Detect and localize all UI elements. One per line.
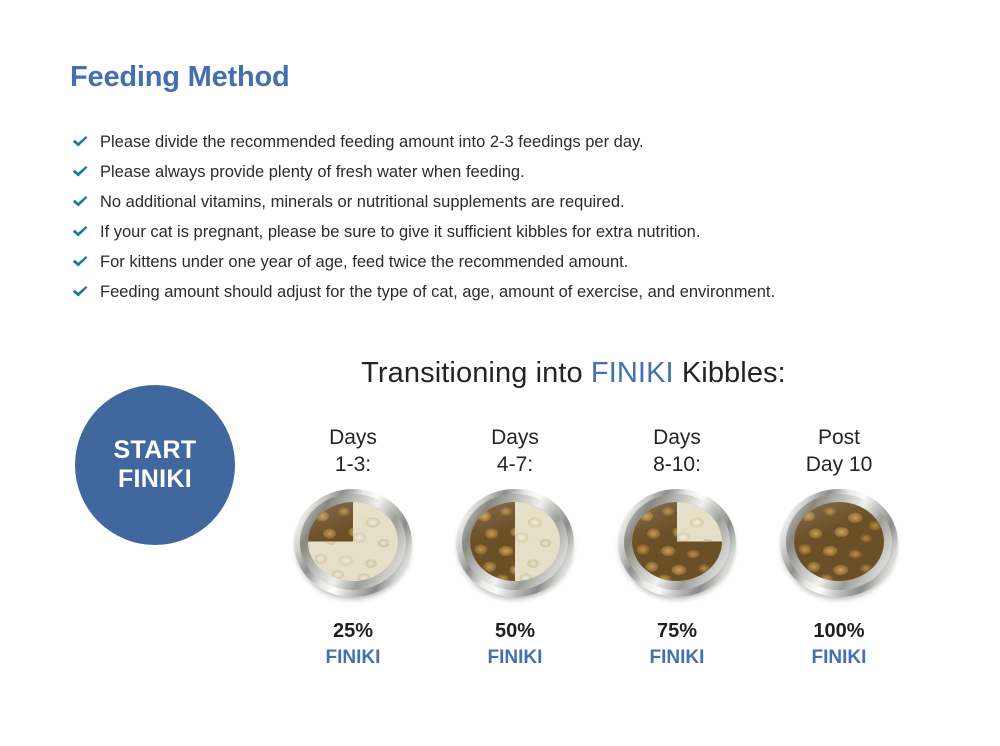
transition-steps: Days 1-3: 25% FINIKI Days 4-7: — [272, 425, 922, 670]
check-icon — [71, 163, 89, 181]
list-item-label: Please always provide plenty of fresh wa… — [100, 164, 525, 181]
list-item: For kittens under one year of age, feed … — [70, 247, 970, 277]
transition-step: Days 8-10: 75% FINIKI — [596, 425, 758, 670]
transition-step: Post Day 10 100% FINIKI — [758, 425, 920, 670]
transition-title-after: Kibbles: — [674, 357, 786, 389]
start-badge-line1: START — [114, 436, 197, 466]
step-day-label: Days 1-3: — [329, 425, 377, 479]
bowl-contents — [632, 502, 722, 581]
kibble-bowl-icon — [456, 489, 574, 597]
list-item-label: Feeding amount should adjust for the typ… — [100, 284, 775, 301]
new-food-kibble — [794, 502, 884, 581]
step-brand-label: FINIKI — [488, 647, 543, 670]
start-finiki-badge: START FINIKI — [75, 385, 235, 545]
step-percent: 50% — [495, 619, 535, 643]
step-brand-label: FINIKI — [650, 647, 705, 670]
list-item-label: Please divide the recommended feeding am… — [100, 134, 644, 151]
list-item-label: No additional vitamins, minerals or nutr… — [100, 194, 625, 211]
step-brand-label: FINIKI — [326, 647, 381, 670]
check-icon — [71, 133, 89, 151]
list-item: If your cat is pregnant, please be sure … — [70, 217, 970, 247]
step-day-label: Post Day 10 — [806, 425, 873, 479]
check-icon — [71, 253, 89, 271]
list-item: Feeding amount should adjust for the typ… — [70, 277, 970, 307]
transition-step: Days 4-7: 50% FINIKI — [434, 425, 596, 670]
kibble-bowl-icon — [780, 489, 898, 597]
step-day-label: Days 4-7: — [491, 425, 539, 479]
check-icon — [71, 193, 89, 211]
page-title: Feeding Method — [70, 61, 290, 94]
step-percent: 100% — [813, 619, 864, 643]
kibble-bowl-icon — [618, 489, 736, 597]
step-percent: 75% — [657, 619, 697, 643]
list-item-label: If your cat is pregnant, please be sure … — [100, 224, 700, 241]
step-brand-label: FINIKI — [812, 647, 867, 670]
transition-title-brand: FINIKI — [591, 357, 674, 389]
feeding-guidelines-list: Please divide the recommended feeding am… — [70, 127, 970, 307]
list-item: No additional vitamins, minerals or nutr… — [70, 187, 970, 217]
bowl-contents — [308, 502, 398, 581]
transition-step: Days 1-3: 25% FINIKI — [272, 425, 434, 670]
step-day-label: Days 8-10: — [653, 425, 701, 479]
start-badge-line2: FINIKI — [118, 465, 192, 495]
bowl-contents — [470, 502, 560, 581]
check-icon — [71, 223, 89, 241]
feeding-method-page: Feeding Method Please divide the recomme… — [0, 0, 1000, 746]
list-item: Please divide the recommended feeding am… — [70, 127, 970, 157]
kibble-bowl-icon — [294, 489, 412, 597]
transition-title-before: Transitioning into — [361, 357, 591, 389]
list-item: Please always provide plenty of fresh wa… — [70, 157, 970, 187]
list-item-label: For kittens under one year of age, feed … — [100, 254, 628, 271]
check-icon — [71, 283, 89, 301]
bowl-contents — [794, 502, 884, 581]
step-percent: 25% — [333, 619, 373, 643]
